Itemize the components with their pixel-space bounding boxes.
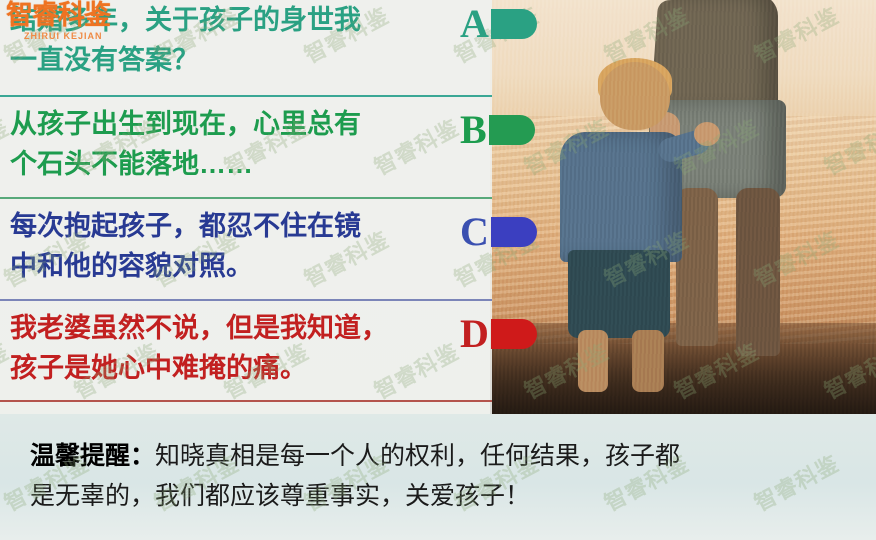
option-letter-d: D [460, 314, 489, 354]
notice-line-1: 温馨提醒：知晓真相是每一个人的权利，任何结果，孩子都 [30, 436, 846, 476]
brand-logo: 智睿科鉴 ZHIRUI KEJIAN [6, 2, 110, 41]
divider-a [0, 95, 492, 97]
brand-logo-cn: 智睿科鉴 [6, 2, 110, 29]
brand-logo-en: ZHIRUI KEJIAN [24, 32, 110, 41]
statements-panel: 结婚多年，关于孩子的身世我 一直没有答案？ 从孩子出生到现在，心里总有 个石头不… [0, 0, 492, 414]
statement-c-line-1: 每次抱起孩子，都忍不住在镜 [10, 206, 492, 246]
option-pill-d [491, 319, 537, 349]
statement-block-c: 每次抱起孩子，都忍不住在镜 中和他的容貌对照。 [0, 202, 492, 286]
divider-c [0, 299, 492, 301]
family-photo [490, 0, 876, 414]
option-badge-d[interactable]: D [460, 314, 537, 354]
statement-a-line-2: 一直没有答案？ [10, 40, 492, 80]
option-pill-b [489, 115, 535, 145]
option-pill-c [491, 217, 537, 247]
statement-d-line-2: 孩子是她心中难掩的痛。 [10, 348, 492, 388]
option-badge-c[interactable]: C [460, 212, 537, 252]
option-badge-a[interactable]: A [460, 4, 537, 44]
statement-block-d: 我老婆虽然不说，但是我知道， 孩子是她心中难掩的痛。 [0, 304, 492, 388]
slide-root: 结婚多年，关于孩子的身世我 一直没有答案？ 从孩子出生到现在，心里总有 个石头不… [0, 0, 876, 540]
option-pill-a [491, 9, 537, 39]
statement-d-line-1: 我老婆虽然不说，但是我知道， [10, 308, 492, 348]
statement-b-line-1: 从孩子出生到现在，心里总有 [10, 104, 492, 144]
option-letter-c: C [460, 212, 489, 252]
statement-c-line-2: 中和他的容貌对照。 [10, 246, 492, 286]
notice-line-2: 是无辜的，我们都应该尊重事实，关爱孩子！ [30, 476, 846, 516]
divider-b [0, 197, 492, 199]
notice-label: 温馨提醒： [30, 442, 155, 470]
option-letter-a: A [460, 4, 489, 44]
notice-line-1-text: 知晓真相是每一个人的权利，任何结果，孩子都 [155, 442, 680, 470]
option-letter-b: B [460, 110, 487, 150]
statement-block-b: 从孩子出生到现在，心里总有 个石头不能落地…… [0, 100, 492, 184]
photo-grain-overlay [490, 0, 876, 414]
statement-b-line-2: 个石头不能落地…… [10, 144, 492, 184]
divider-d [0, 400, 492, 402]
notice-banner: 温馨提醒：知晓真相是每一个人的权利，任何结果，孩子都 是无辜的，我们都应该尊重事… [0, 414, 876, 540]
option-badge-b[interactable]: B [460, 110, 535, 150]
